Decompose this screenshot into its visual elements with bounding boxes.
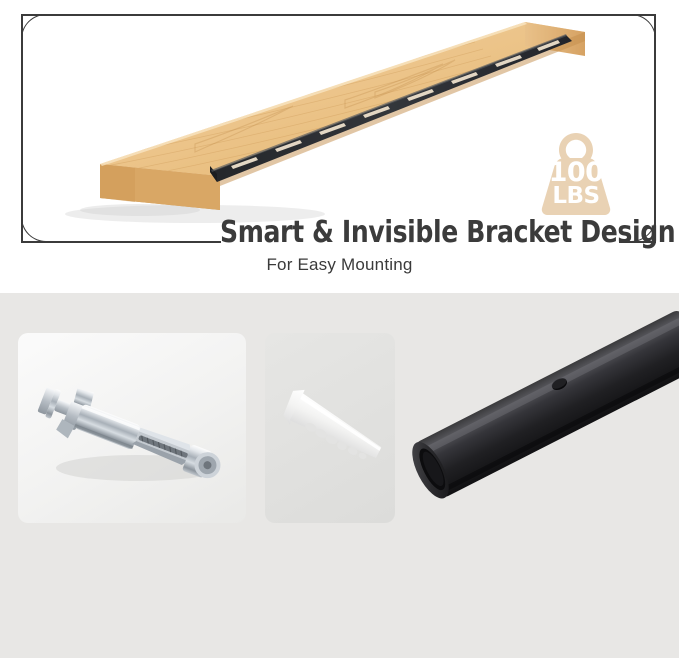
frame-corner-bottom-left bbox=[21, 216, 47, 242]
top-feature-panel: 100 LBS Smart & Invisible Bracket Design… bbox=[0, 0, 679, 289]
metal-anchor-photo bbox=[18, 333, 246, 523]
frame-left-edge bbox=[21, 14, 23, 242]
plastic-wall-plug-photo bbox=[265, 333, 395, 523]
bottom-feature-panel: Upgrade Metal Anchors heavy-duty Made of… bbox=[0, 293, 679, 658]
weight-capacity-badge: 100 LBS bbox=[528, 131, 624, 219]
weight-unit: LBS bbox=[528, 183, 624, 209]
frame-corner-top-left bbox=[21, 14, 47, 40]
frame-right-edge bbox=[654, 14, 656, 242]
subheadline: For Easy Mounting bbox=[0, 255, 679, 275]
product-infographic: 100 LBS Smart & Invisible Bracket Design… bbox=[0, 0, 679, 658]
headline: Smart & Invisible Bracket Design bbox=[220, 218, 592, 250]
frame-corner-top-right bbox=[630, 14, 656, 40]
frame-bottom-left-edge bbox=[21, 241, 221, 243]
black-iron-pipe-photo bbox=[395, 293, 679, 553]
